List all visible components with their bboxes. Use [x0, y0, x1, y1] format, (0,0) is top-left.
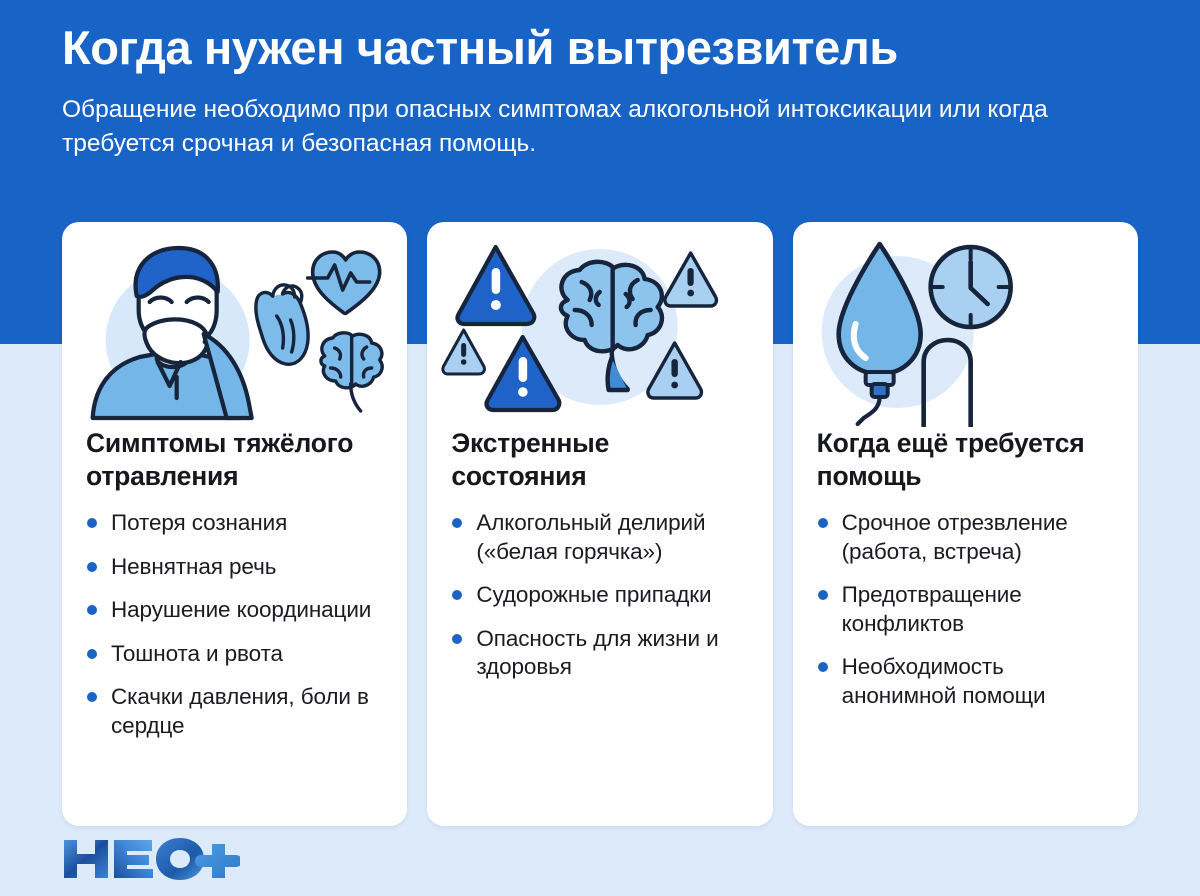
neo-plus-logo-mark — [62, 836, 240, 882]
bullet-icon — [452, 590, 462, 600]
warning-triangle-icon — [665, 253, 717, 306]
list-item: Невнятная речь — [86, 553, 383, 582]
list-item-text: Скачки давления, боли в сердце — [111, 684, 369, 738]
list-item-text: Тошнота и рвота — [111, 641, 283, 666]
list-item-text: Потеря сознания — [111, 510, 287, 535]
list-item-text: Срочное отрезвление (работа, встреча) — [842, 510, 1068, 564]
card-emergency-conditions: Экстренные состояния Алкогольный делирий… — [427, 222, 772, 826]
list-item-text: Необходимость анонимной помощи — [842, 654, 1046, 708]
card-3-illustration — [793, 222, 1138, 427]
card-severe-poisoning-symptoms: Симптомы тяжёлого отравления Потеря созн… — [62, 222, 407, 826]
page-title: Когда нужен частный вытрезвитель — [62, 22, 1138, 75]
list-item: Срочное отрезвление (работа, встреча) — [817, 509, 1114, 566]
bullet-icon — [452, 518, 462, 528]
list-item-text: Невнятная речь — [111, 554, 276, 579]
bullet-icon — [818, 518, 828, 528]
list-item-text: Алкогольный делирий («белая горячка») — [476, 510, 705, 564]
plus-icon — [195, 844, 240, 878]
card-1-title: Симптомы тяжёлого отравления — [86, 427, 383, 492]
warning-triangle-icon — [443, 330, 485, 374]
list-item-text: Опасность для жизни и здоровья — [476, 626, 718, 680]
list-item: Скачки давления, боли в сердце — [86, 683, 383, 740]
card-2-illustration — [427, 222, 772, 427]
list-item: Тошнота и рвота — [86, 640, 383, 669]
bullet-icon — [87, 518, 97, 528]
bullet-icon — [87, 692, 97, 702]
list-item: Нарушение координации — [86, 596, 383, 625]
list-item: Алкогольный делирий («белая горячка») — [451, 509, 748, 566]
card-1-body: Симптомы тяжёлого отравления Потеря созн… — [62, 427, 407, 826]
cards-row: Симптомы тяжёлого отравления Потеря созн… — [62, 222, 1138, 826]
list-item-text: Предотвращение конфликтов — [842, 582, 1022, 636]
card-3-body: Когда ещё требуется помощь Срочное отрез… — [793, 427, 1138, 826]
list-item-text: Судорожные припадки — [476, 582, 711, 607]
bullet-icon — [452, 634, 462, 644]
card-2-body: Экстренные состояния Алкогольный делирий… — [427, 427, 772, 826]
header: Когда нужен частный вытрезвитель Обращен… — [0, 0, 1200, 162]
brain-icon — [321, 333, 382, 411]
clock-icon — [930, 247, 1010, 327]
card-1-illustration — [62, 222, 407, 427]
card-when-else-help-needed: Когда ещё требуется помощь Срочное отрез… — [793, 222, 1138, 826]
anatomical-heart-icon — [256, 285, 308, 364]
heart-pulse-icon — [308, 252, 380, 314]
bullet-icon — [818, 662, 828, 672]
list-item: Потеря сознания — [86, 509, 383, 538]
card-2-list: Алкогольный делирий («белая горячка») Су… — [451, 509, 748, 682]
bullet-icon — [87, 562, 97, 572]
neo-plus-logo — [62, 836, 240, 882]
list-item-text: Нарушение координации — [111, 597, 371, 622]
card-3-list: Срочное отрезвление (работа, встреча) Пр… — [817, 509, 1114, 710]
bullet-icon — [818, 590, 828, 600]
page-subtitle: Обращение необходимо при опасных симптом… — [62, 93, 1072, 163]
list-item: Судорожные припадки — [451, 581, 748, 610]
card-2-title: Экстренные состояния — [451, 427, 748, 492]
bullet-icon — [87, 649, 97, 659]
card-1-list: Потеря сознания Невнятная речь Нарушение… — [86, 509, 383, 740]
list-item: Необходимость анонимной помощи — [817, 653, 1114, 710]
list-item: Опасность для жизни и здоровья — [451, 625, 748, 682]
list-item: Предотвращение конфликтов — [817, 581, 1114, 638]
card-3-title: Когда ещё требуется помощь — [817, 427, 1114, 492]
bullet-icon — [87, 605, 97, 615]
warning-triangle-icon — [458, 247, 535, 324]
